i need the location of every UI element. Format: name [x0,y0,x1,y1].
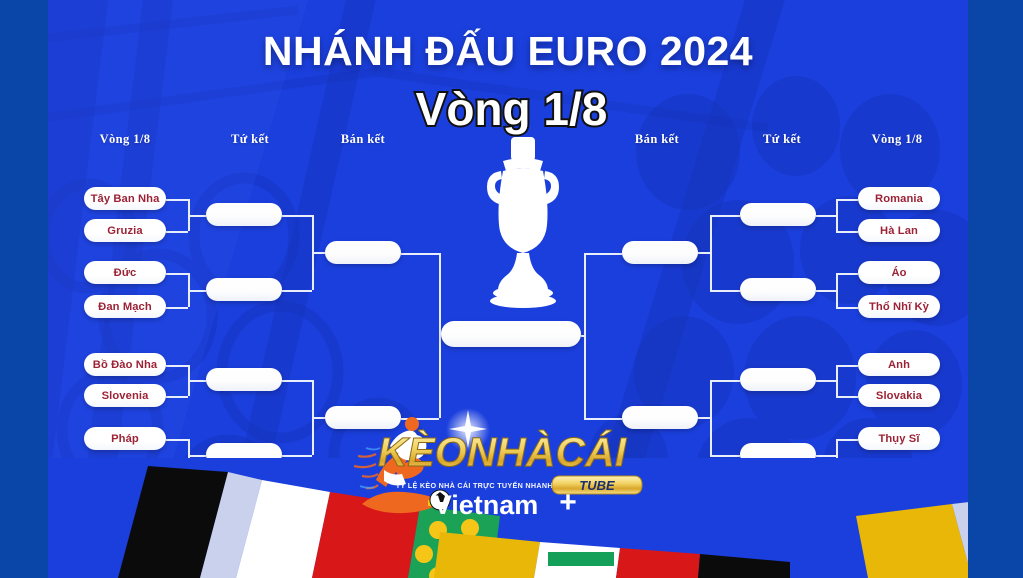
right-qf-feed-0 [816,215,836,217]
left-r16-slot-0-label: Tây Ban Nha [91,193,160,205]
logo-subtitle-mark: + [559,486,577,519]
right-qf-slot-1[interactable] [740,278,816,301]
left-r16-slot-5[interactable]: Slovenia [84,384,166,407]
right-r16-h-6 [836,439,858,441]
right-qf-feed-2 [816,380,836,382]
right-r16-slot-4[interactable]: Anh [858,353,940,376]
page-title: NHÁNH ĐẤU EURO 2024 [48,28,968,75]
left-qf-slot-0[interactable] [206,203,282,226]
right-r16-v-0 [836,199,838,231]
left-r16-h-5 [166,396,188,398]
right-qf-h-0 [710,215,740,217]
overlay-title: Vòng 1/8 [0,82,1023,136]
left-sf-h-0 [401,253,439,255]
left-r16-h-6 [166,439,188,441]
right-r16-slot-6-label: Thụy Sĩ [878,433,919,445]
right-r16-slot-3-label: Thổ Nhĩ Kỳ [869,301,929,313]
right-r16-v-1 [836,273,838,307]
left-r16-h-1 [166,231,188,233]
left-r16-h-2 [166,273,188,275]
left-qf-feed-2 [188,380,206,382]
left-r16-slot-1[interactable]: Gruzia [84,219,166,242]
right-r16-slot-2[interactable]: Áo [858,261,940,284]
right-qf-slot-0[interactable] [740,203,816,226]
right-final-feed [581,335,584,337]
flag-stripe-green-mid [548,552,614,566]
right-r16-slot-5-label: Slovakia [876,390,922,402]
keonhacai-logo[interactable]: KÈONHÀCÁI TỶ LỆ KÈO NHÀ CÁI TRỰC TUYẾN N… [336,408,656,520]
right-qf-v-1 [710,380,712,455]
right-qf-slot-2[interactable] [740,368,816,391]
right-r16-slot-1-label: Hà Lan [880,225,918,237]
right-sf-v [584,253,586,418]
right-r16-h-2 [836,273,858,275]
right-sf-feed-1 [698,417,710,419]
left-qf-slot-2[interactable] [206,368,282,391]
left-r16-slot-5-label: Slovenia [102,390,149,402]
euro-trophy-icon [473,135,573,325]
right-r16-slot-6[interactable]: Thụy Sĩ [858,427,940,450]
left-qf-feed-3 [188,455,206,457]
left-r16-slot-4-label: Bồ Đào Nha [93,359,157,371]
left-r16-h-4 [166,365,188,367]
logo-brand: KÈONHÀCÁI [378,429,628,475]
right-qf-h-3 [710,455,740,457]
right-border-mask [968,458,1023,578]
left-r16-slot-3[interactable]: Đan Mạch [84,295,166,318]
left-r16-slot-3-label: Đan Mạch [98,301,152,313]
logo-tagline: TỶ LỆ KÈO NHÀ CÁI TRỰC TUYẾN NHANH NHẤT [396,480,577,490]
left-qf-feed-1 [188,290,206,292]
right-r16-slot-1[interactable]: Hà Lan [858,219,940,242]
left-border-mask [0,458,48,578]
tube-badge-label: TUBE [579,478,615,493]
left-qf-slot-1[interactable] [206,278,282,301]
right-r16-slot-4-label: Anh [888,359,910,371]
left-sf-feed-0 [312,252,325,254]
left-r16-slot-1-label: Gruzia [107,225,142,237]
right-sf-slot-0[interactable] [622,241,698,264]
right-r16-h-1 [836,231,858,233]
left-qf-h-2 [282,380,312,382]
right-r16-h-4 [836,365,858,367]
left-r16-slot-6-label: Pháp [111,433,139,445]
right-sf-feed-0 [698,252,710,254]
left-qf-h-1 [282,290,312,292]
right-r16-slot-5[interactable]: Slovakia [858,384,940,407]
flag-strip-yellow-right [856,504,972,578]
left-qf-feed-0 [188,215,206,217]
right-qf-feed-3 [816,455,836,457]
right-r16-h-0 [836,199,858,201]
right-r16-slot-0[interactable]: Romania [858,187,940,210]
right-qf-feed-1 [816,290,836,292]
right-sf-h-0 [584,253,622,255]
left-qf-h-0 [282,215,312,217]
left-r16-slot-2-label: Đức [114,267,137,279]
logo-subtitle: Vietnam [434,490,539,520]
left-sf-feed-1 [312,417,325,419]
right-r16-v-2 [836,365,838,396]
right-r16-slot-3[interactable]: Thổ Nhĩ Kỳ [858,295,940,318]
euro-bracket-graphic: NHÁNH ĐẤU EURO 2024 Vòng 1/8Tứ kếtBán kế… [0,0,1023,578]
left-r16-h-0 [166,199,188,201]
left-r16-slot-2[interactable]: Đức [84,261,166,284]
left-r16-slot-6[interactable]: Pháp [84,427,166,450]
left-r16-slot-0[interactable]: Tây Ban Nha [84,187,166,210]
right-qf-v-0 [710,215,712,290]
right-r16-h-3 [836,307,858,309]
left-r16-h-3 [166,307,188,309]
left-r16-slot-4[interactable]: Bồ Đào Nha [84,353,166,376]
left-qf-h-3 [282,455,312,457]
right-qf-h-2 [710,380,740,382]
right-qf-h-1 [710,290,740,292]
left-sf-slot-0[interactable] [325,241,401,264]
right-r16-slot-0-label: Romania [875,193,923,205]
right-r16-h-5 [836,396,858,398]
right-r16-slot-2-label: Áo [891,267,906,279]
